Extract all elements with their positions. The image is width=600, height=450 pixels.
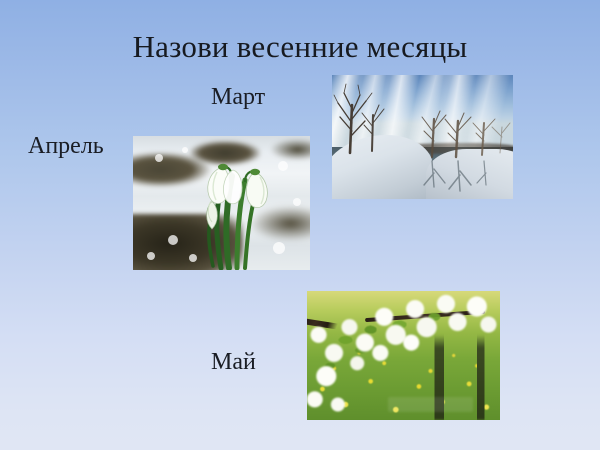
month-label-april: Апрель (28, 132, 104, 160)
page-title: Назови весенние месяцы (0, 28, 600, 66)
may-photo (307, 291, 500, 420)
march-photo (332, 75, 513, 199)
month-label-may: Май (211, 348, 256, 376)
month-label-march: Март (211, 83, 265, 111)
april-snowdrop-flowers (133, 136, 310, 270)
april-photo (133, 136, 310, 270)
may-photo-watermark (388, 397, 473, 412)
presentation-slide: Назови весенние месяцы Март (0, 0, 600, 450)
march-bare-trees (332, 75, 513, 199)
